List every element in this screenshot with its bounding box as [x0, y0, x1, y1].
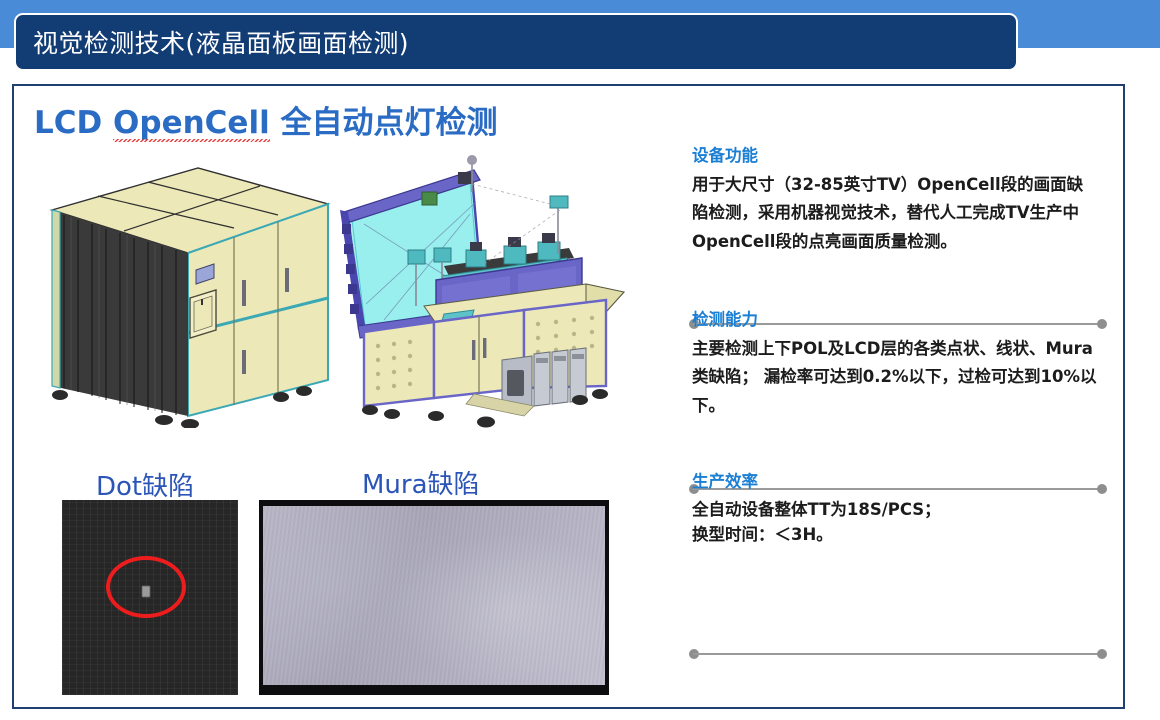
photo-label-mura: Mura缺陷 [362, 464, 480, 501]
slide-heading-spellchecked: OpenCell [113, 105, 270, 141]
illustration-enclosed-inspection-cabinet [38, 158, 338, 428]
photo-label-dot: Dot缺陷 [96, 466, 194, 503]
info-block-equipment-function: 设备功能 用于大尺寸（32-85英寸TV）OpenCell段的画面缺陷检测，采用… [674, 142, 1114, 256]
info-block-detection-capability: 检测能力 主要检测上下POL及LCD层的各类点状、线状、Mura类缺陷； 漏检率… [674, 306, 1114, 420]
info-body-detection-capability: 主要检测上下POL及LCD层的各类点状、线状、Mura类缺陷； 漏检率可达到0.… [692, 335, 1098, 420]
divider-3 [689, 649, 1107, 659]
slide-heading: LCD OpenCell 全自动点灯检测 [34, 97, 498, 142]
info-body-line-2: 换型时间：＜3H。 [692, 522, 1098, 547]
defect-photo-dot [62, 500, 238, 695]
info-body-line-1: 全自动设备整体TT为18S/PCS； [692, 497, 1098, 522]
defect-annotation-ellipse [106, 556, 186, 618]
info-title-equipment-function: 设备功能 [692, 142, 1114, 166]
divider-cap-right-icon [1097, 649, 1107, 659]
defect-photo-mura [259, 500, 609, 695]
info-block-production-efficiency: 生产效率 全自动设备整体TT为18S/PCS； 换型时间：＜3H。 [674, 468, 1114, 547]
info-body-equipment-function: 用于大尺寸（32-85英寸TV）OpenCell段的画面缺陷检测，采用机器视觉技… [692, 171, 1098, 256]
illustration-opencell-lighting-station [324, 154, 639, 434]
info-body-production-efficiency: 全自动设备整体TT为18S/PCS； 换型时间：＜3H。 [692, 497, 1098, 547]
slide-heading-suffix: 全自动点灯检测 [270, 105, 498, 141]
info-title-detection-capability: 检测能力 [692, 306, 1114, 330]
info-title-production-efficiency: 生产效率 [692, 468, 1114, 492]
slide-title-bar: 视觉检测技术(液晶面板画面检测) [14, 13, 1018, 71]
page-title: 视觉检测技术(液晶面板画面检测) [16, 24, 409, 60]
slide-heading-prefix: LCD [34, 105, 113, 141]
mura-panel-surface [263, 506, 605, 685]
divider-bar [693, 653, 1103, 655]
slide-content-frame: LCD OpenCell 全自动点灯检测 [12, 84, 1125, 709]
